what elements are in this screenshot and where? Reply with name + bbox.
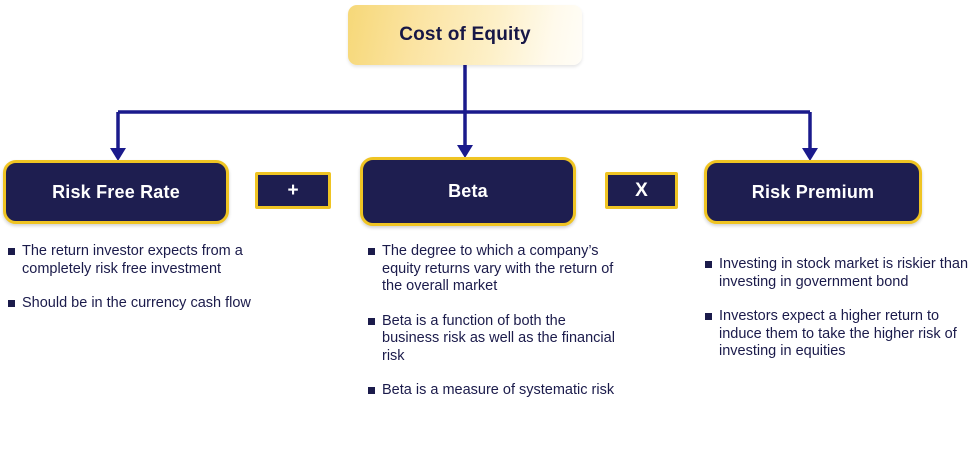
bullet-item: The return investor expects from a compl… (8, 243, 296, 278)
bullet-item: Investing in stock market is riskier tha… (705, 256, 974, 291)
operator-label-plus: + (287, 180, 298, 202)
operator-label-times: X (635, 180, 648, 202)
title-box[interactable]: Cost of Equity (348, 5, 582, 65)
bullet-column-risk-premium: Investing in stock market is riskier tha… (705, 256, 974, 361)
bullet-item: Beta is a measure of systematic risk (368, 382, 626, 400)
node-box-risk-premium[interactable]: Risk Premium (704, 160, 922, 224)
bullet-item: Beta is a function of both the business … (368, 313, 626, 366)
bullet-text: Investors expect a higher return to indu… (719, 308, 957, 359)
bullet-text: Beta is a measure of systematic risk (382, 382, 614, 398)
square-bullet-icon (368, 248, 375, 255)
bullet-item: Investors expect a higher return to indu… (705, 308, 974, 361)
node-label-beta: Beta (448, 181, 488, 202)
square-bullet-icon (705, 313, 712, 320)
bullet-item: Should be in the currency cash flow (8, 295, 296, 313)
node-label-risk-free-rate: Risk Free Rate (52, 182, 180, 203)
bullet-item: The degree to which a company’s equity r… (368, 243, 626, 296)
bullet-text: Investing in stock market is riskier tha… (719, 256, 968, 290)
square-bullet-icon (705, 261, 712, 268)
square-bullet-icon (8, 300, 15, 307)
square-bullet-icon (8, 248, 15, 255)
node-box-beta[interactable]: Beta (360, 157, 576, 226)
title-box-label: Cost of Equity (399, 24, 531, 46)
diagram-canvas: Cost of Equity Risk Free Rate Beta Risk … (0, 0, 974, 450)
node-label-risk-premium: Risk Premium (752, 182, 874, 203)
operator-box-times: X (605, 172, 678, 209)
square-bullet-icon (368, 318, 375, 325)
bullet-text: The return investor expects from a compl… (22, 243, 243, 277)
bullet-column-beta: The degree to which a company’s equity r… (368, 243, 626, 400)
bullet-text: Beta is a function of both the business … (382, 313, 615, 364)
bullet-text: The degree to which a company’s equity r… (382, 243, 613, 294)
square-bullet-icon (368, 387, 375, 394)
operator-box-plus: + (255, 172, 331, 209)
bullet-column-risk-free-rate: The return investor expects from a compl… (8, 243, 296, 313)
node-box-risk-free-rate[interactable]: Risk Free Rate (3, 160, 229, 224)
bullet-text: Should be in the currency cash flow (22, 295, 251, 311)
